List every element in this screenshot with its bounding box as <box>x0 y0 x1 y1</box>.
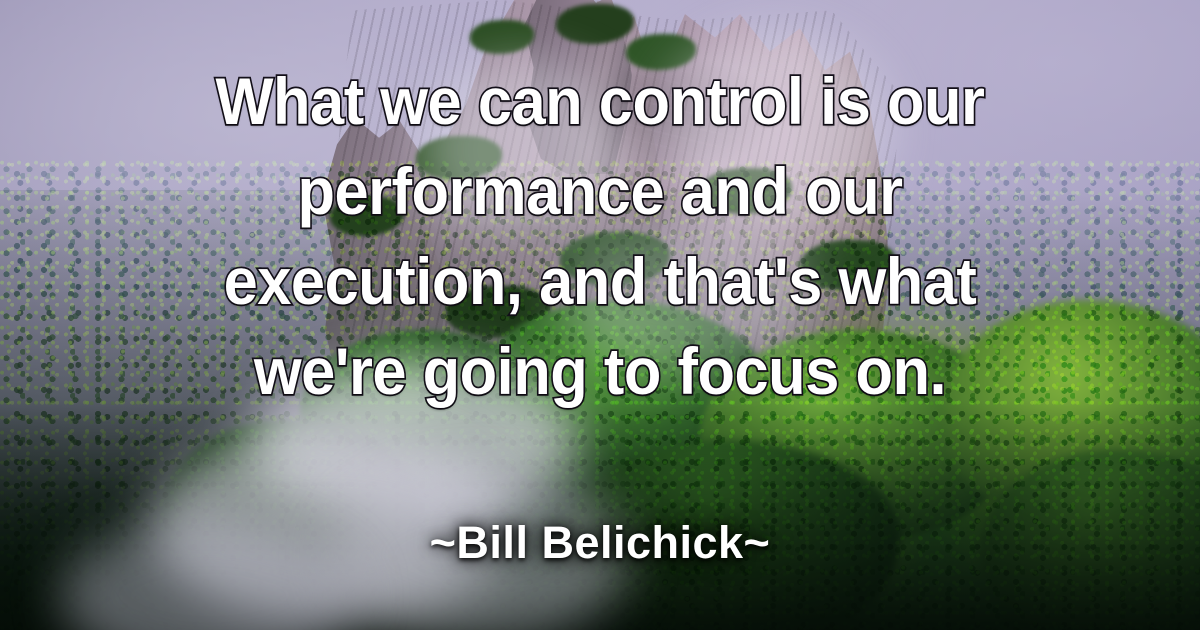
quote-line: performance and our <box>42 146 1158 236</box>
quote-line: What we can control is our <box>42 56 1158 146</box>
quote-attribution: ~Bill Belichick~ <box>0 513 1200 573</box>
quote-line: execution, and that's what <box>42 236 1158 326</box>
quote-line: we're going to focus on. <box>42 326 1158 416</box>
quote-text: What we can control is our performance a… <box>42 56 1158 416</box>
quote-graphic: What we can control is our performance a… <box>0 0 1200 630</box>
